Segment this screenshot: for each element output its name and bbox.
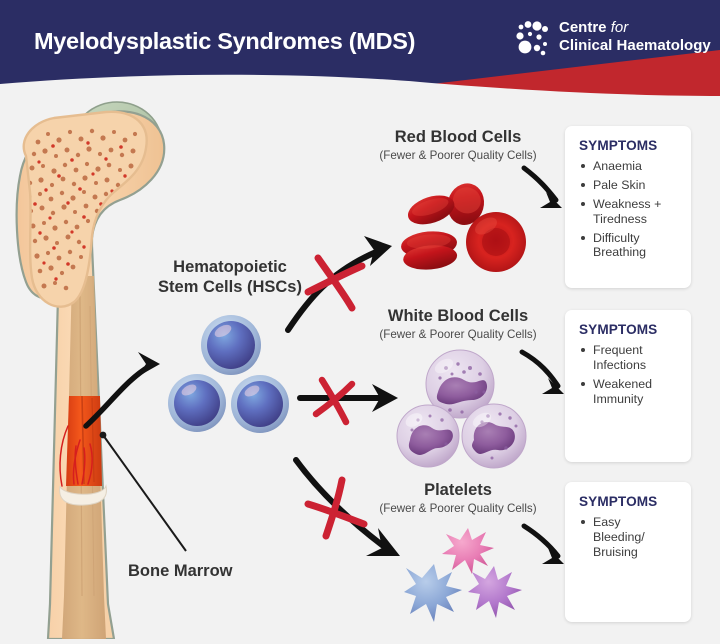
symptom-line-a: Weakened <box>593 377 652 391</box>
symptom-item: FrequentInfections <box>579 343 681 373</box>
symptom-line-b: Infections <box>593 358 646 372</box>
rbc-svg <box>398 172 534 284</box>
symptom-item: EasyBleeding/Bruising <box>579 515 681 560</box>
symptom-item: DifficultyBreathing <box>579 231 681 261</box>
wbc-subtitle: (Fewer & Poorer Quality Cells) <box>358 328 558 342</box>
wbc-left <box>397 405 459 467</box>
symptom-item: WeakenedImmunity <box>579 377 681 407</box>
symptom-line-b: Bleeding/ <box>593 530 645 544</box>
symptom-line-a: Frequent <box>593 343 643 357</box>
symptoms-list: EasyBleeding/Bruising <box>579 515 681 560</box>
wbc-svg <box>396 348 536 472</box>
logo-for-word: for <box>611 19 629 36</box>
symptom-line-c: Bruising <box>593 545 638 559</box>
bone-svg <box>0 96 196 639</box>
symptom-line-a: Difficulty <box>593 231 640 245</box>
symptoms-list: Anaemia Pale Skin Weakness +Tiredness Di… <box>579 159 681 260</box>
arrow-hsc-to-wbc <box>300 384 398 412</box>
symptoms-list: FrequentInfections WeakenedImmunity <box>579 343 681 407</box>
red-x-platelets <box>308 480 364 536</box>
rbc-lower-left <box>400 229 459 272</box>
symptoms-heading: SYMPTOMS <box>579 138 681 153</box>
dot-cluster-logo-icon <box>513 20 555 60</box>
wbc-title: White Blood Cells <box>358 307 558 326</box>
red-blood-cells-illustration <box>398 172 534 284</box>
platelets-subtitle: (Fewer & Poorer Quality Cells) <box>362 502 554 516</box>
hematopoietic-stem-cells <box>168 312 294 438</box>
page-header: Myelodysplastic Syndromes (MDS) Centre f… <box>0 0 720 96</box>
symptom-item: Weakness +Tiredness <box>579 197 681 227</box>
stem-cells-svg <box>168 312 294 438</box>
logo-line-2: Clinical Haematology <box>559 37 711 55</box>
platelets-title: Platelets <box>362 481 554 500</box>
hsc-label-line-2: Stem Cells (HSCs) <box>136 277 324 297</box>
symptoms-card-red-blood-cells: SYMPTOMS Anaemia Pale Skin Weakness +Tir… <box>565 126 691 288</box>
stem-cell-top <box>201 315 261 375</box>
symptoms-heading: SYMPTOMS <box>579 322 681 337</box>
stem-cell-right <box>231 375 289 433</box>
symptom-line-b: Tiredness <box>593 212 647 226</box>
symptom-line-b: Breathing <box>593 245 646 259</box>
symptom-line-b: Immunity <box>593 392 643 406</box>
symptoms-card-platelets: SYMPTOMS EasyBleeding/Bruising <box>565 482 691 622</box>
rbc-subtitle: (Fewer & Poorer Quality Cells) <box>360 149 556 163</box>
logo-text: Centre for Clinical Haematology <box>559 19 711 54</box>
stem-cell-left <box>168 374 226 432</box>
red-blood-cells-label: Red Blood Cells (Fewer & Poorer Quality … <box>360 128 556 163</box>
logo-line-1: Centre for <box>559 19 711 37</box>
symptoms-card-white-blood-cells: SYMPTOMS FrequentInfections WeakenedImmu… <box>565 310 691 462</box>
bone-marrow-label-text: Bone Marrow <box>128 562 278 581</box>
symptom-item: Pale Skin <box>579 178 681 193</box>
platelets-label: Platelets (Fewer & Poorer Quality Cells) <box>362 481 554 516</box>
symptom-line-a: Weakness + <box>593 197 661 211</box>
wbc-right <box>462 404 526 468</box>
logo-centre-word: Centre <box>559 19 607 36</box>
white-blood-cells-label: White Blood Cells (Fewer & Poorer Qualit… <box>358 307 558 342</box>
logo[interactable]: Centre for Clinical Haematology <box>513 18 713 64</box>
red-x-wbc <box>316 380 352 422</box>
platelet-pink <box>442 528 494 574</box>
infographic-root: Myelodysplastic Syndromes (MDS) Centre f… <box>0 0 720 639</box>
platelet-blue <box>404 564 462 622</box>
bone-marrow-leader-line <box>100 432 186 551</box>
symptoms-heading: SYMPTOMS <box>579 494 681 509</box>
platelets-svg <box>396 522 536 636</box>
platelets-illustration <box>396 522 536 636</box>
bone-marrow-label: Bone Marrow <box>128 562 278 581</box>
symptom-line-a: Easy <box>593 515 621 529</box>
page-title: Myelodysplastic Syndromes (MDS) <box>34 28 415 55</box>
symptom-item: Anaemia <box>579 159 681 174</box>
stem-cells-label: Hematopoietic Stem Cells (HSCs) <box>136 257 324 297</box>
white-blood-cells-illustration <box>396 348 536 472</box>
rbc-right-face <box>466 212 526 272</box>
platelet-purple <box>468 566 522 618</box>
bone-illustration <box>0 96 196 639</box>
hsc-label-line-1: Hematopoietic <box>136 257 324 277</box>
rbc-title: Red Blood Cells <box>360 128 556 147</box>
